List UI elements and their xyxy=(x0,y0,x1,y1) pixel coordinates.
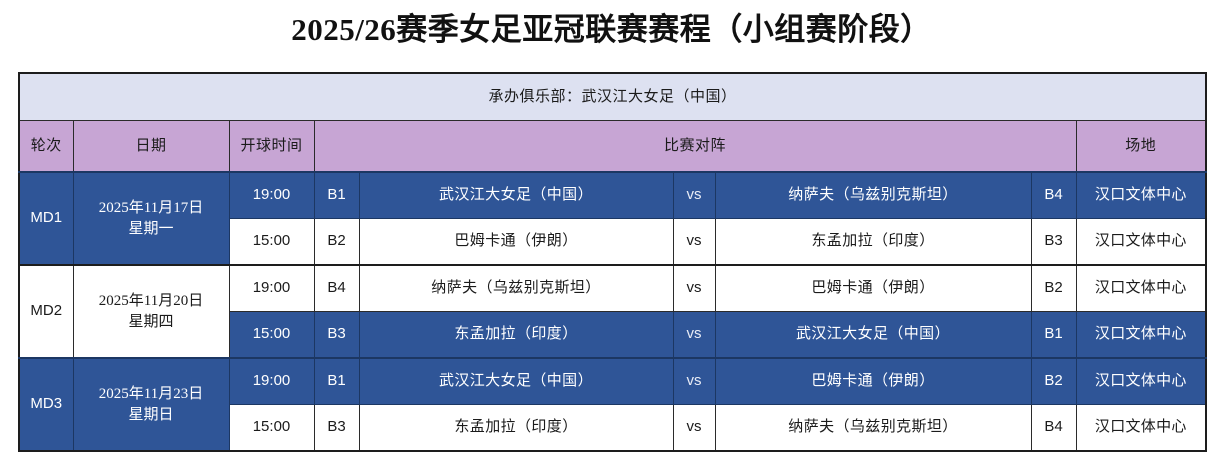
away-team: 巴姆卡通（伊朗） xyxy=(715,265,1031,312)
venue-cell: 汉口文体中心 xyxy=(1076,172,1206,219)
home-team: 东孟加拉（印度） xyxy=(359,405,673,452)
date-line-1: 2025年11月23日 xyxy=(74,384,229,404)
away-team: 武汉江大女足（中国） xyxy=(715,312,1031,359)
page-title: 2025/26赛季女足亚冠联赛赛程（小组赛阶段） xyxy=(0,8,1223,52)
home-code: B3 xyxy=(314,405,359,452)
home-code: B1 xyxy=(314,172,359,219)
venue-cell: 汉口文体中心 xyxy=(1076,358,1206,405)
home-team: 巴姆卡通（伊朗） xyxy=(359,219,673,266)
date-line-2: 星期四 xyxy=(74,312,229,332)
vs-label: vs xyxy=(673,358,715,405)
venue-cell: 汉口文体中心 xyxy=(1076,219,1206,266)
date-line-2: 星期一 xyxy=(74,219,229,239)
date-line-1: 2025年11月17日 xyxy=(74,198,229,218)
venue-cell: 汉口文体中心 xyxy=(1076,312,1206,359)
venue-cell: 汉口文体中心 xyxy=(1076,405,1206,452)
column-header-round: 轮次 xyxy=(19,121,73,173)
schedule-page: 2025/26赛季女足亚冠联赛赛程（小组赛阶段） 承办俱乐部：武汉江大女足（中国… xyxy=(0,0,1223,470)
table-row: MD1 2025年11月17日 星期一 19:00 B1 武汉江大女足（中国） … xyxy=(19,172,1206,219)
home-code: B1 xyxy=(314,358,359,405)
host-club-banner-row: 承办俱乐部：武汉江大女足（中国） xyxy=(19,73,1206,121)
away-code: B4 xyxy=(1031,172,1076,219)
schedule-table-body: 承办俱乐部：武汉江大女足（中国） 轮次 日期 开球时间 比赛对阵 场地 MD1 … xyxy=(19,73,1206,451)
venue-cell: 汉口文体中心 xyxy=(1076,265,1206,312)
home-team: 武汉江大女足（中国） xyxy=(359,358,673,405)
date-cell: 2025年11月23日 星期日 xyxy=(73,358,229,451)
away-team: 东孟加拉（印度） xyxy=(715,219,1031,266)
column-header-kickoff: 开球时间 xyxy=(229,121,314,173)
away-code: B3 xyxy=(1031,219,1076,266)
away-team: 纳萨夫（乌兹别克斯坦） xyxy=(715,172,1031,219)
home-code: B3 xyxy=(314,312,359,359)
away-code: B1 xyxy=(1031,312,1076,359)
date-cell: 2025年11月17日 星期一 xyxy=(73,172,229,265)
host-club-banner: 承办俱乐部：武汉江大女足（中国） xyxy=(19,73,1206,121)
home-team: 东孟加拉（印度） xyxy=(359,312,673,359)
kickoff-time: 15:00 xyxy=(229,312,314,359)
column-header-row: 轮次 日期 开球时间 比赛对阵 场地 xyxy=(19,121,1206,173)
vs-label: vs xyxy=(673,219,715,266)
kickoff-time: 15:00 xyxy=(229,219,314,266)
table-row: MD3 2025年11月23日 星期日 19:00 B1 武汉江大女足（中国） … xyxy=(19,358,1206,405)
date-line-2: 星期日 xyxy=(74,405,229,425)
vs-label: vs xyxy=(673,172,715,219)
vs-label: vs xyxy=(673,265,715,312)
away-code: B2 xyxy=(1031,358,1076,405)
column-header-date: 日期 xyxy=(73,121,229,173)
schedule-table-wrapper: 承办俱乐部：武汉江大女足（中国） 轮次 日期 开球时间 比赛对阵 场地 MD1 … xyxy=(18,72,1205,452)
away-team: 巴姆卡通（伊朗） xyxy=(715,358,1031,405)
away-code: B2 xyxy=(1031,265,1076,312)
kickoff-time: 15:00 xyxy=(229,405,314,452)
column-header-venue: 场地 xyxy=(1076,121,1206,173)
column-header-fixture: 比赛对阵 xyxy=(314,121,1076,173)
home-code: B4 xyxy=(314,265,359,312)
kickoff-time: 19:00 xyxy=(229,265,314,312)
home-team: 纳萨夫（乌兹别克斯坦） xyxy=(359,265,673,312)
date-cell: 2025年11月20日 星期四 xyxy=(73,265,229,358)
kickoff-time: 19:00 xyxy=(229,172,314,219)
date-line-1: 2025年11月20日 xyxy=(74,291,229,311)
round-cell: MD3 xyxy=(19,358,73,451)
kickoff-time: 19:00 xyxy=(229,358,314,405)
schedule-table: 承办俱乐部：武汉江大女足（中国） 轮次 日期 开球时间 比赛对阵 场地 MD1 … xyxy=(18,72,1207,452)
away-team: 纳萨夫（乌兹别克斯坦） xyxy=(715,405,1031,452)
vs-label: vs xyxy=(673,405,715,452)
round-cell: MD1 xyxy=(19,172,73,265)
home-code: B2 xyxy=(314,219,359,266)
home-team: 武汉江大女足（中国） xyxy=(359,172,673,219)
round-cell: MD2 xyxy=(19,265,73,358)
vs-label: vs xyxy=(673,312,715,359)
table-row: MD2 2025年11月20日 星期四 19:00 B4 纳萨夫（乌兹别克斯坦）… xyxy=(19,265,1206,312)
away-code: B4 xyxy=(1031,405,1076,452)
